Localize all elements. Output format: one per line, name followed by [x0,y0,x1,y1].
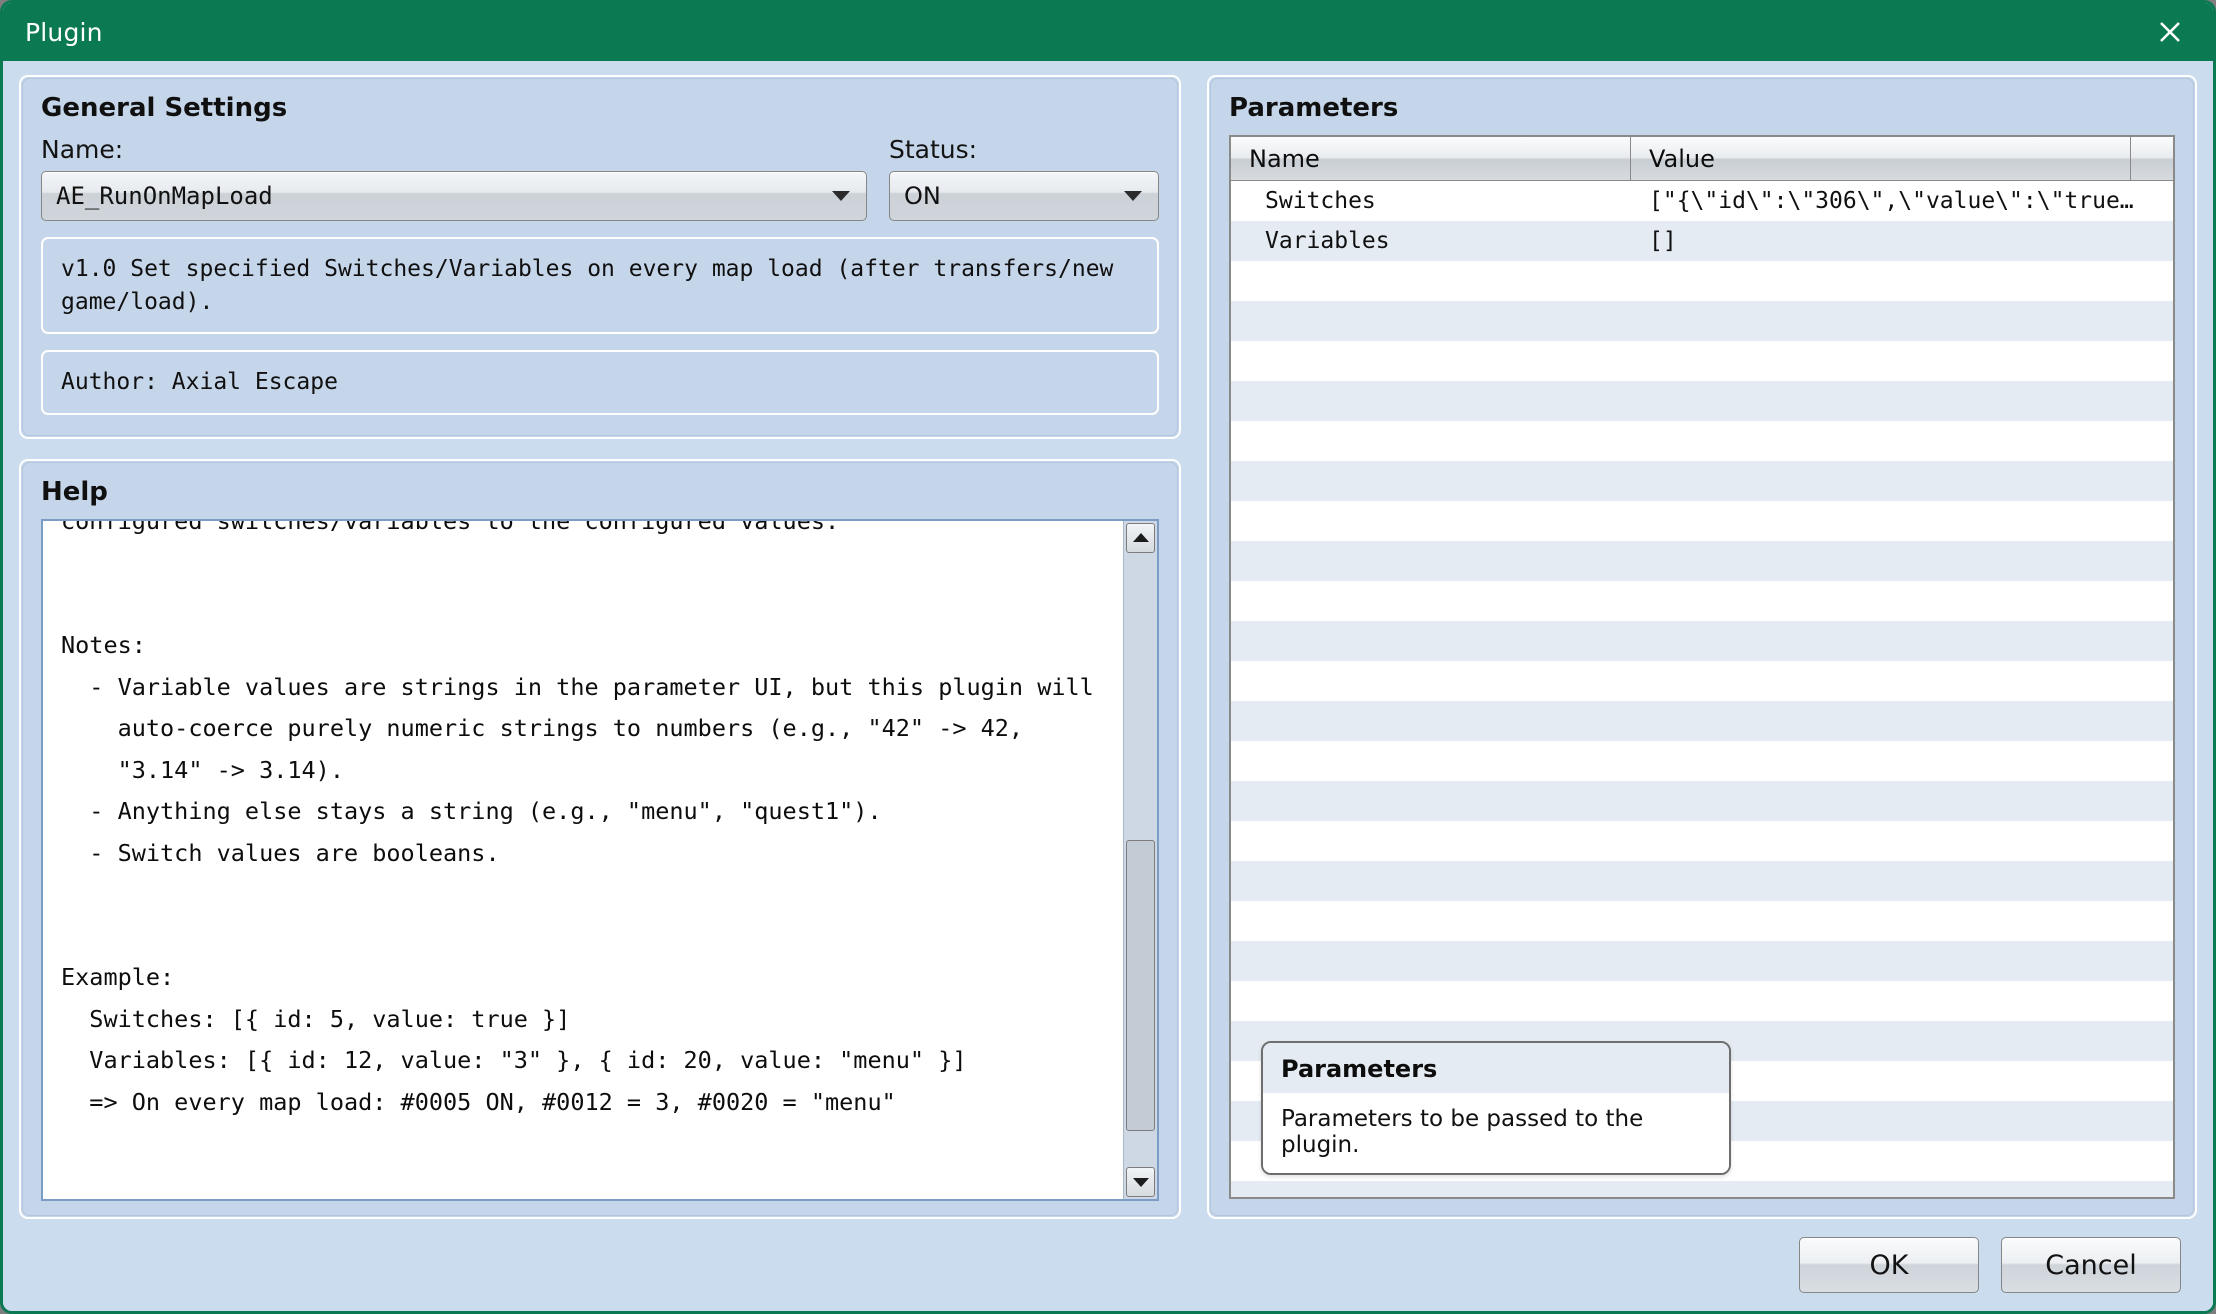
status-field-wrapper: Status: ON [889,135,1159,221]
table-row[interactable] [1231,501,2173,541]
parameter-name-cell: Switches [1231,188,1631,214]
parameter-value-cell: ["{\"id\":\"306\",\"value\":\"true… [1631,188,2173,214]
table-row[interactable]: Switches["{\"id\":\"306\",\"value\":\"tr… [1231,181,2173,221]
help-title: Help [41,477,1159,507]
right-column: Parameters Name Value Switches["{\"id\":… [1207,75,2197,1219]
scroll-up-arrow-icon[interactable] [1126,523,1155,553]
parameters-title: Parameters [1229,93,2175,123]
name-label: Name: [41,135,867,164]
help-scrollbar[interactable] [1123,521,1157,1199]
column-header-value[interactable]: Value [1631,137,2131,181]
table-row[interactable] [1231,421,2173,461]
table-row[interactable] [1231,1181,2173,1197]
table-row[interactable] [1231,701,2173,741]
close-icon[interactable] [2127,3,2213,61]
dialog-body: General Settings Name: AE_RunOnMapLoad S… [3,61,2213,1219]
parameters-table: Name Value Switches["{\"id\":\"306\",\"v… [1229,135,2175,1199]
scroll-down-arrow-icon[interactable] [1126,1167,1155,1197]
parameter-name-cell: Variables [1231,228,1631,254]
general-settings-title: General Settings [41,93,1159,123]
table-row[interactable] [1231,341,2173,381]
help-text-area[interactable]: configured switches/variables to the con… [41,519,1159,1201]
chevron-down-icon [1124,191,1142,201]
help-scrollbar-thumb[interactable] [1126,840,1155,1132]
plugin-name-value: AE_RunOnMapLoad [56,182,273,210]
parameter-value-cell: [] [1631,228,2173,254]
status-label: Status: [889,135,1159,164]
content-columns: General Settings Name: AE_RunOnMapLoad S… [19,75,2197,1219]
table-row[interactable] [1231,581,2173,621]
table-row[interactable]: Variables[] [1231,221,2173,261]
table-row[interactable] [1231,941,2173,981]
cancel-button[interactable]: Cancel [2001,1237,2181,1293]
table-row[interactable] [1231,461,2173,501]
table-row[interactable] [1231,261,2173,301]
column-header-spacer [2131,137,2173,181]
plugin-dialog-window: Plugin General Settings Name: AE_RunOn [0,0,2216,1314]
status-combobox[interactable]: ON [889,171,1159,221]
ok-button[interactable]: OK [1799,1237,1979,1293]
window-title: Plugin [25,18,103,47]
table-row[interactable] [1231,541,2173,581]
help-text-content: configured switches/variables to the con… [43,519,1123,1199]
status-value: ON [904,182,941,210]
left-column: General Settings Name: AE_RunOnMapLoad S… [19,75,1181,1219]
name-field-wrapper: Name: AE_RunOnMapLoad [41,135,867,221]
table-row[interactable] [1231,621,2173,661]
general-settings-fields: Name: AE_RunOnMapLoad Status: ON [41,135,1159,221]
table-row[interactable] [1231,781,2173,821]
parameters-table-header: Name Value [1231,137,2173,181]
chevron-down-icon [832,191,850,201]
parameters-group: Parameters Name Value Switches["{\"id\":… [1207,75,2197,1219]
table-row[interactable] [1231,661,2173,701]
table-row[interactable] [1231,821,2173,861]
dialog-footer: OK Cancel [3,1219,2213,1311]
table-row[interactable] [1231,381,2173,421]
table-row[interactable] [1231,901,2173,941]
tooltip-body: Parameters to be passed to the plugin. [1263,1093,1729,1173]
plugin-author: Author: Axial Escape [41,350,1159,415]
table-row[interactable] [1231,981,2173,1021]
table-row[interactable] [1231,741,2173,781]
parameter-tooltip: Parameters Parameters to be passed to th… [1261,1041,1731,1175]
title-bar: Plugin [3,3,2213,61]
help-group: Help configured switches/variables to th… [19,459,1181,1219]
table-row[interactable] [1231,861,2173,901]
tooltip-title: Parameters [1263,1043,1729,1093]
column-header-name[interactable]: Name [1231,137,1631,181]
general-settings-group: General Settings Name: AE_RunOnMapLoad S… [19,75,1181,439]
table-row[interactable] [1231,301,2173,341]
plugin-description: v1.0 Set specified Switches/Variables on… [41,237,1159,334]
plugin-name-combobox[interactable]: AE_RunOnMapLoad [41,171,867,221]
